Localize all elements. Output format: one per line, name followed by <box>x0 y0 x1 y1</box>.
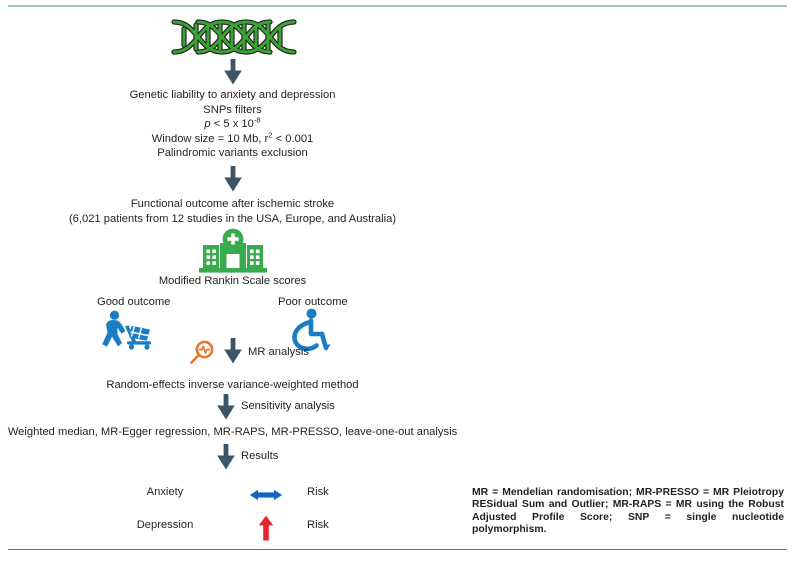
abbreviations-legend: MR = Mendelian randomisation; MR-PRESSO … <box>472 487 784 537</box>
exposure-line-4: Window size = 10 Mb, r2 < 0.001 <box>0 132 465 147</box>
down-arrow-icon <box>222 338 244 364</box>
down-arrow-icon <box>222 59 244 85</box>
result-row-anxiety: Anxiety Risk <box>0 486 465 506</box>
result-outcome-label: Risk <box>307 519 329 531</box>
flowchart: Genetic liability to anxiety and depress… <box>0 0 465 549</box>
result-row-depression: Depression Risk <box>0 519 465 539</box>
good-outcome-label: Good outcome <box>97 296 170 308</box>
up-arrow-icon <box>256 515 276 541</box>
bidirectional-arrow-icon <box>249 487 283 503</box>
exposure-text-block: Genetic liability to anxiety and depress… <box>0 88 465 161</box>
sensitivity-methods-label: Weighted median, MR-Egger regression, MR… <box>0 425 465 440</box>
person-pushing-handcart-icon <box>98 310 160 350</box>
outcome-text-block: Functional outcome after ischemic stroke… <box>0 197 465 226</box>
primary-method-label: Random-effects inverse variance-weighted… <box>0 378 465 393</box>
result-outcome-label: Risk <box>307 486 329 498</box>
down-arrow-icon <box>215 394 237 420</box>
outcome-line-1: Functional outcome after ischemic stroke <box>0 197 465 212</box>
down-arrow-icon <box>222 166 244 192</box>
result-exposure-label: Anxiety <box>110 486 220 498</box>
bottom-rule <box>8 549 787 550</box>
exposure-line-5: Palindromic variants exclusion <box>0 146 465 161</box>
p-value-rest: < 5 x 10 <box>211 118 254 130</box>
exposure-line-1: Genetic liability to anxiety and depress… <box>0 88 465 103</box>
modified-rankin-scale-label: Modified Rankin Scale scores <box>0 274 465 289</box>
exposure-line-2: SNPs filters <box>0 103 465 118</box>
result-exposure-label: Depression <box>110 519 220 531</box>
exposure-line-3: p < 5 x 10-8 <box>0 117 465 132</box>
dna-double-helix-icon <box>168 18 298 56</box>
p-value-exponent: -8 <box>254 115 261 124</box>
outcome-line-2: (6,021 patients from 12 studies in the U… <box>0 212 465 227</box>
hospital-building-icon <box>196 228 270 274</box>
magnifier-pulse-icon <box>188 340 216 366</box>
window-size-text: Window size = 10 Mb, r <box>152 133 269 145</box>
down-arrow-icon <box>215 444 237 470</box>
mr-analysis-label: MR analysis <box>248 346 309 358</box>
sensitivity-analysis-label: Sensitivity analysis <box>241 400 335 412</box>
results-label: Results <box>241 450 278 462</box>
r-squared-threshold: < 0.001 <box>273 133 314 145</box>
poor-outcome-label: Poor outcome <box>278 296 348 308</box>
figure-container: Genetic liability to anxiety and depress… <box>0 0 795 563</box>
